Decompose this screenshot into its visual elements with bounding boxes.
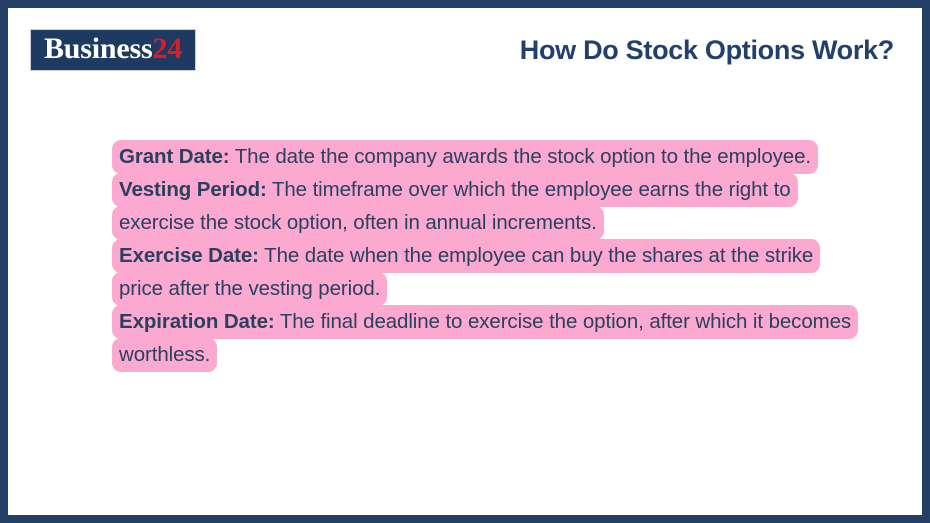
term-label: Grant Date:: [119, 145, 230, 168]
slide-frame: Business24 How Do Stock Options Work? Gr…: [0, 0, 930, 523]
logo-word: Business: [44, 32, 152, 65]
list-item: Vesting Period: The timeframe over which…: [112, 173, 852, 239]
logo-number: 24: [152, 32, 182, 65]
list-item: Expiration Date: The final deadline to e…: [112, 305, 852, 371]
list-item: Grant Date: The date the company awards …: [112, 140, 852, 173]
highlighted-run: Vesting Period: The timeframe over which…: [112, 173, 798, 240]
term-definition: The date the company awards the stock op…: [230, 145, 811, 168]
page-title: How Do Stock Options Work?: [520, 35, 894, 66]
highlighted-run: Expiration Date: The final deadline to e…: [112, 305, 858, 372]
term-label: Vesting Period:: [119, 178, 267, 201]
business24-logo: Business24: [30, 29, 196, 71]
term-label: Expiration Date:: [119, 310, 275, 333]
list-item: Exercise Date: The date when the employe…: [112, 239, 852, 305]
logo-text: Business24: [44, 34, 182, 64]
slide-header: Business24 How Do Stock Options Work?: [8, 8, 922, 92]
highlighted-run: Grant Date: The date the company awards …: [112, 140, 818, 174]
definition-list: Grant Date: The date the company awards …: [112, 140, 852, 371]
term-label: Exercise Date:: [119, 244, 259, 267]
highlighted-run: Exercise Date: The date when the employe…: [112, 239, 820, 306]
